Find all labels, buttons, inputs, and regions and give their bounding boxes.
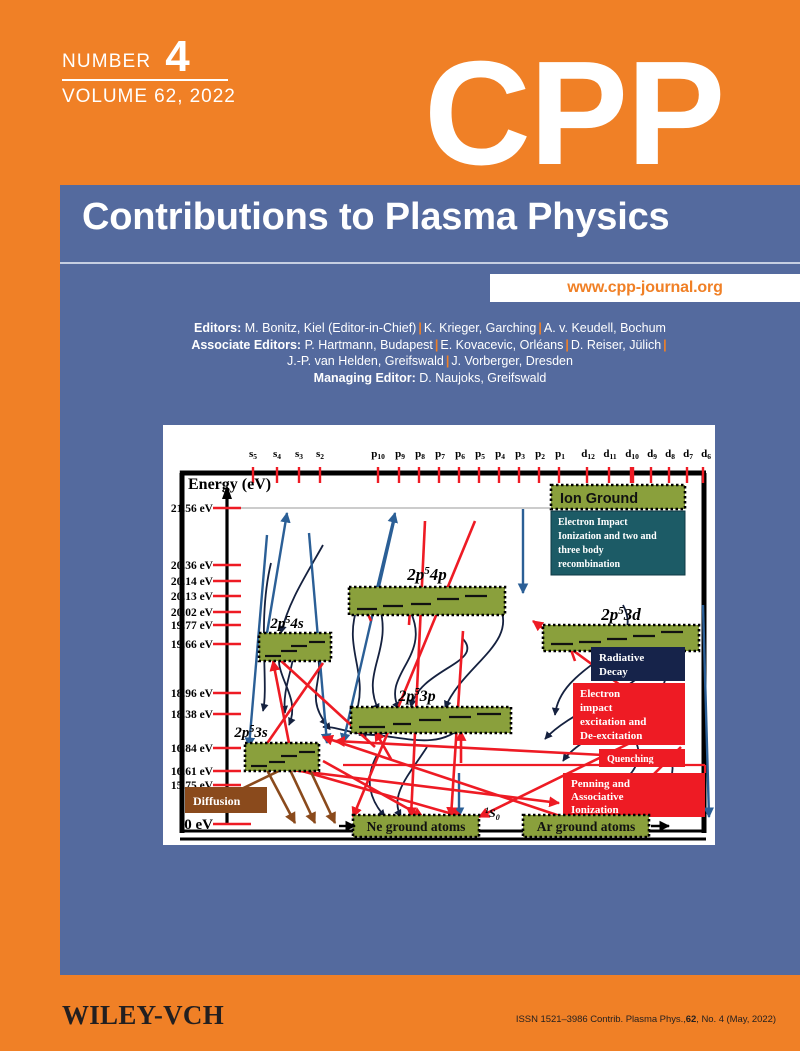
issue-number-value: 4 bbox=[165, 38, 189, 75]
svg-text:16.61 eV: 16.61 eV bbox=[171, 766, 214, 778]
box-electron-impact-excitation: Electron impact excitation and De-excita… bbox=[573, 683, 685, 745]
svg-text:20.13 eV: 20.13 eV bbox=[171, 591, 214, 603]
journal-cover: NUMBER 4 VOLUME 62, 2022 CPP Contributio… bbox=[0, 0, 800, 1051]
svg-text:19.77 eV: 19.77 eV bbox=[171, 620, 214, 632]
svg-text:De-excitation: De-excitation bbox=[580, 730, 642, 742]
editors-label: Editors: bbox=[194, 321, 241, 335]
box-ion-ground: Ion Ground bbox=[551, 485, 685, 509]
level-box-2p54p bbox=[349, 587, 505, 615]
journal-title: Contributions to Plasma Physics bbox=[82, 196, 669, 239]
issue-number-row: NUMBER 4 bbox=[62, 34, 236, 73]
cover-figure: s5 s4 s3 s2 p10 p9 p8 p7 p6 p5 p4 p3 p2 … bbox=[163, 425, 715, 845]
svg-text:18.38 eV: 18.38 eV bbox=[171, 709, 214, 721]
energy-level-diagram: s5 s4 s3 s2 p10 p9 p8 p7 p6 p5 p4 p3 p2 … bbox=[163, 425, 715, 845]
svg-text:Electron Impact: Electron Impact bbox=[558, 517, 628, 528]
editors-line-1: Editors: M. Bonitz, Kiel (Editor-in-Chie… bbox=[80, 320, 780, 337]
svg-text:three body: three body bbox=[558, 545, 604, 556]
svg-text:Decay: Decay bbox=[599, 666, 628, 678]
issn-line: ISSN 1521–3986 Contrib. Plasma Phys.,62,… bbox=[516, 1014, 776, 1025]
svg-text:Ne ground atoms: Ne ground atoms bbox=[367, 819, 466, 834]
svg-text:Ionization and two and: Ionization and two and bbox=[558, 531, 657, 542]
svg-text:0 eV: 0 eV bbox=[184, 817, 213, 833]
svg-text:21.56 eV: 21.56 eV bbox=[171, 503, 214, 515]
svg-text:recombination: recombination bbox=[558, 559, 620, 570]
separator-icon: | bbox=[661, 338, 669, 352]
svg-text:Electron: Electron bbox=[580, 688, 620, 700]
title-divider bbox=[60, 262, 800, 264]
svg-text:Diffusion: Diffusion bbox=[193, 794, 241, 808]
box-ne-ground-atoms: Ne ground atoms bbox=[339, 815, 479, 837]
assoc-editor-4: J.-P. van Helden, Greifswald bbox=[287, 354, 444, 368]
box-electron-impact-ionization: Electron Impact Ionization and two and t… bbox=[551, 511, 685, 575]
issn-prefix: ISSN 1521–3986 Contrib. Plasma Phys., bbox=[516, 1014, 686, 1025]
box-ar-ground-atoms: Ar ground atoms bbox=[523, 815, 669, 837]
svg-text:18.96 eV: 18.96 eV bbox=[171, 688, 214, 700]
svg-text:20.02 eV: 20.02 eV bbox=[171, 607, 214, 619]
issue-number-label: NUMBER bbox=[62, 51, 151, 73]
associate-editors-label: Associate Editors: bbox=[191, 338, 301, 352]
editors-line-4: Managing Editor: D. Naujoks, Greifswald bbox=[80, 370, 780, 387]
svg-text:20.14 eV: 20.14 eV bbox=[171, 576, 214, 588]
box-diffusion: Diffusion bbox=[185, 787, 267, 813]
svg-text:Ar ground atoms: Ar ground atoms bbox=[537, 819, 636, 834]
editors-block: Editors: M. Bonitz, Kiel (Editor-in-Chie… bbox=[80, 320, 780, 386]
editor-3: A. v. Keudell, Bochum bbox=[544, 321, 666, 335]
svg-text:16.84 eV: 16.84 eV bbox=[171, 743, 214, 755]
svg-text:impact: impact bbox=[580, 702, 613, 714]
level-box-2p53s bbox=[245, 743, 319, 771]
box-radiative-decay: Radiative Decay bbox=[591, 647, 685, 681]
svg-text:20.36 eV: 20.36 eV bbox=[171, 560, 214, 572]
separator-icon: | bbox=[416, 321, 424, 335]
svg-text:excitation and: excitation and bbox=[580, 716, 646, 728]
ion-ground-label: Ion Ground bbox=[560, 491, 638, 507]
level-box-2p54s bbox=[259, 633, 331, 661]
svg-text:Radiative: Radiative bbox=[599, 652, 644, 664]
managing-editor-label: Managing Editor: bbox=[314, 371, 416, 385]
issue-block: NUMBER 4 VOLUME 62, 2022 bbox=[62, 34, 236, 108]
svg-text:19.66 eV: 19.66 eV bbox=[171, 639, 214, 651]
managing-editor: D. Naujoks, Greifswald bbox=[419, 371, 546, 385]
editor-2: K. Krieger, Garching bbox=[424, 321, 537, 335]
issn-suffix: , No. 4 (May, 2022) bbox=[696, 1014, 776, 1025]
assoc-editor-1: P. Hartmann, Budapest bbox=[305, 338, 433, 352]
issue-divider bbox=[62, 79, 228, 81]
cpp-logo: CPP bbox=[424, 46, 724, 182]
svg-text:Penning and: Penning and bbox=[571, 778, 630, 790]
publisher-name: WILEY-VCH bbox=[62, 1000, 224, 1030]
svg-text:Quenching: Quenching bbox=[607, 754, 654, 765]
box-penning-ionization: Penning and Associative Ionization bbox=[563, 773, 705, 817]
energy-axis-title: Energy (eV) bbox=[188, 476, 271, 493]
publisher-logo: WILEY-VCH bbox=[62, 1000, 224, 1031]
editors-line-3: J.-P. van Helden, Greifswald|J. Vorberge… bbox=[80, 353, 780, 370]
separator-icon: | bbox=[536, 321, 544, 335]
assoc-editor-5: J. Vorberger, Dresden bbox=[451, 354, 573, 368]
assoc-editor-2: E. Kovacevic, Orléans bbox=[440, 338, 563, 352]
journal-url[interactable]: www.cpp-journal.org bbox=[567, 279, 722, 297]
editor-1: M. Bonitz, Kiel (Editor-in-Chief) bbox=[245, 321, 417, 335]
assoc-editor-3: D. Reiser, Jülich bbox=[571, 338, 661, 352]
svg-text:Associative: Associative bbox=[571, 791, 624, 803]
editors-line-2: Associate Editors: P. Hartmann, Budapest… bbox=[80, 337, 780, 354]
level-box-2p53p bbox=[351, 707, 511, 733]
separator-icon: | bbox=[563, 338, 571, 352]
journal-url-strip[interactable]: www.cpp-journal.org bbox=[490, 274, 800, 302]
issue-volume: VOLUME 62, 2022 bbox=[62, 86, 236, 108]
issn-volume: 62 bbox=[686, 1014, 696, 1025]
